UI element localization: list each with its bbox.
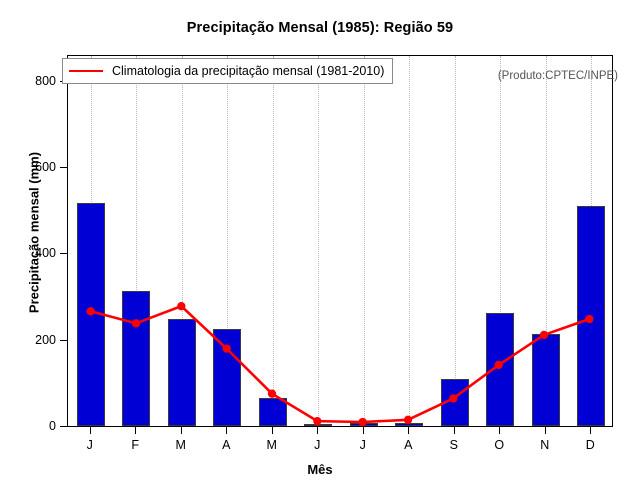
climatology-point-m-2 [177, 302, 185, 310]
climatology-point-a-7 [404, 416, 412, 424]
chart-canvas: Precipitação Mensal (1985): Região 59 02… [0, 0, 640, 500]
climatology-point-n-10 [540, 331, 548, 339]
x-axis-title: Mês [0, 462, 640, 477]
x-tick [499, 427, 500, 434]
x-tick-label-9: O [494, 438, 504, 452]
climatology-point-f-1 [132, 319, 140, 327]
x-tick-label-8: S [450, 438, 458, 452]
x-tick-label-1: F [131, 438, 139, 452]
chart-legend: Climatologia da precipitação mensal (198… [62, 58, 393, 84]
climatology-point-o-9 [494, 361, 502, 369]
climatology-point-j-6 [358, 418, 366, 426]
x-tick-label-6: J [360, 438, 366, 452]
x-axis: JFMAMJJASOND [67, 427, 613, 437]
x-tick [408, 427, 409, 434]
y-tick-label: 0 [49, 419, 56, 433]
x-tick [181, 427, 182, 434]
x-tick-label-5: J [314, 438, 320, 452]
x-tick [135, 427, 136, 434]
climatology-point-s-8 [449, 394, 457, 402]
x-tick [226, 427, 227, 434]
y-tick [60, 426, 67, 427]
climatology-line [91, 306, 590, 422]
plot-area [67, 55, 613, 427]
climatology-point-a-3 [222, 344, 230, 352]
x-tick [590, 427, 591, 434]
climatology-point-j-5 [313, 417, 321, 425]
x-tick-label-3: A [222, 438, 230, 452]
y-axis: 0200400600800 [60, 55, 68, 427]
y-tick [60, 253, 67, 254]
climatology-point-d-11 [585, 315, 593, 323]
y-tick [60, 340, 67, 341]
chart-title: Precipitação Mensal (1985): Região 59 [0, 20, 640, 36]
climatology-point-m-4 [268, 390, 276, 398]
x-tick [272, 427, 273, 434]
x-tick-label-7: A [404, 438, 412, 452]
climatology-point-j-0 [86, 307, 94, 315]
climatology-line-series [68, 56, 612, 426]
x-tick-label-10: N [540, 438, 549, 452]
x-tick [545, 427, 546, 434]
y-axis-title: Precipitação mensal (mm) [27, 103, 42, 363]
x-tick [454, 427, 455, 434]
legend-item-label: Climatologia da precipitação mensal (198… [112, 64, 384, 78]
y-tick-label: 800 [35, 74, 56, 88]
x-tick [317, 427, 318, 434]
x-tick-label-0: J [87, 438, 93, 452]
y-tick [60, 167, 67, 168]
x-tick-label-2: M [176, 438, 186, 452]
legend-line-icon [69, 70, 103, 72]
x-tick-label-11: D [586, 438, 595, 452]
x-tick [90, 427, 91, 434]
x-tick-label-4: M [267, 438, 277, 452]
x-tick [363, 427, 364, 434]
producer-credit: (Produto:CPTEC/INPE) [498, 70, 618, 82]
